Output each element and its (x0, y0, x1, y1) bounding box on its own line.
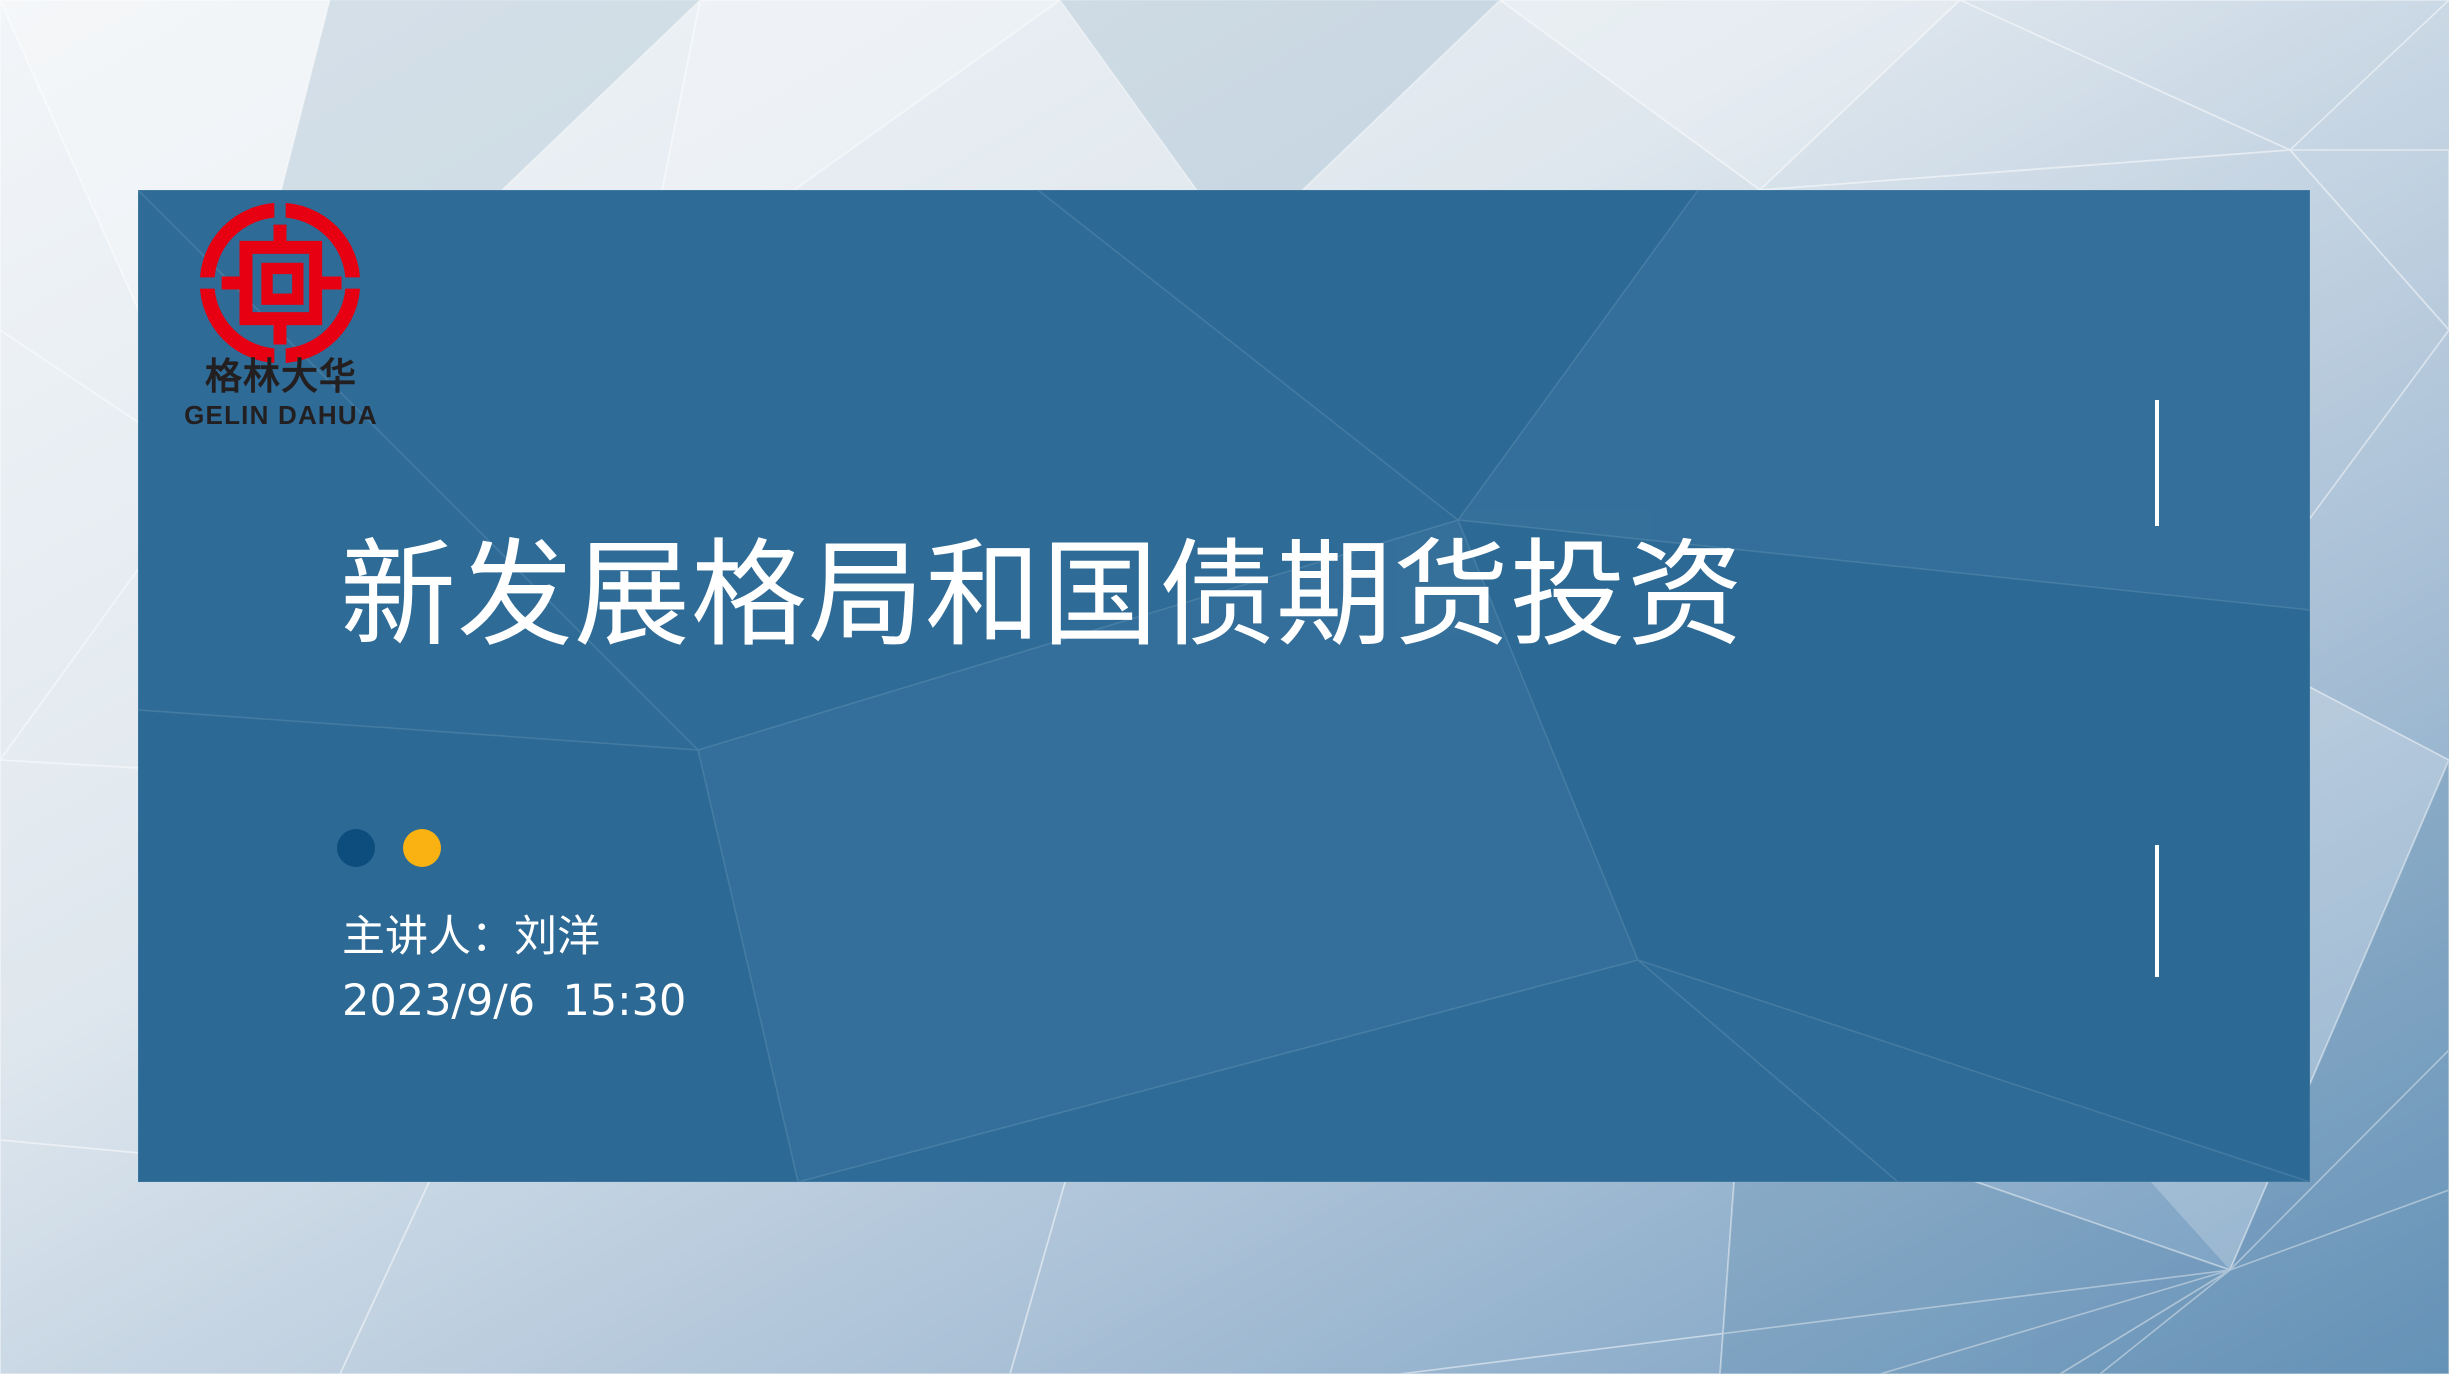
logo-name-en: GELIN DAHUA (166, 402, 396, 428)
slide-meta: 主讲人：刘洋 2023/9/6 15:30 (342, 906, 686, 1033)
company-logo: 格林大华 GELIN DAHUA (166, 202, 396, 432)
accent-rule-bottom (2155, 845, 2159, 977)
speaker-line: 主讲人：刘洋 (342, 906, 686, 970)
logo-name-cn: 格林大华 (166, 358, 396, 395)
accent-rule-top (2155, 400, 2159, 526)
presentation-slide: 格林大华 GELIN DAHUA 新发展格局和国债期货投资 主讲人：刘洋 202… (0, 0, 2449, 1374)
datetime-line: 2023/9/6 15:30 (342, 970, 686, 1034)
dot-navy-icon (337, 829, 375, 867)
dot-amber-icon (403, 829, 441, 867)
decorative-dots (337, 829, 441, 867)
gelin-dahua-seal-icon (199, 202, 361, 364)
slide-title: 新发展格局和国债期货投资 (340, 528, 1744, 665)
content-panel: 格林大华 GELIN DAHUA 新发展格局和国债期货投资 主讲人：刘洋 202… (138, 190, 2310, 1182)
